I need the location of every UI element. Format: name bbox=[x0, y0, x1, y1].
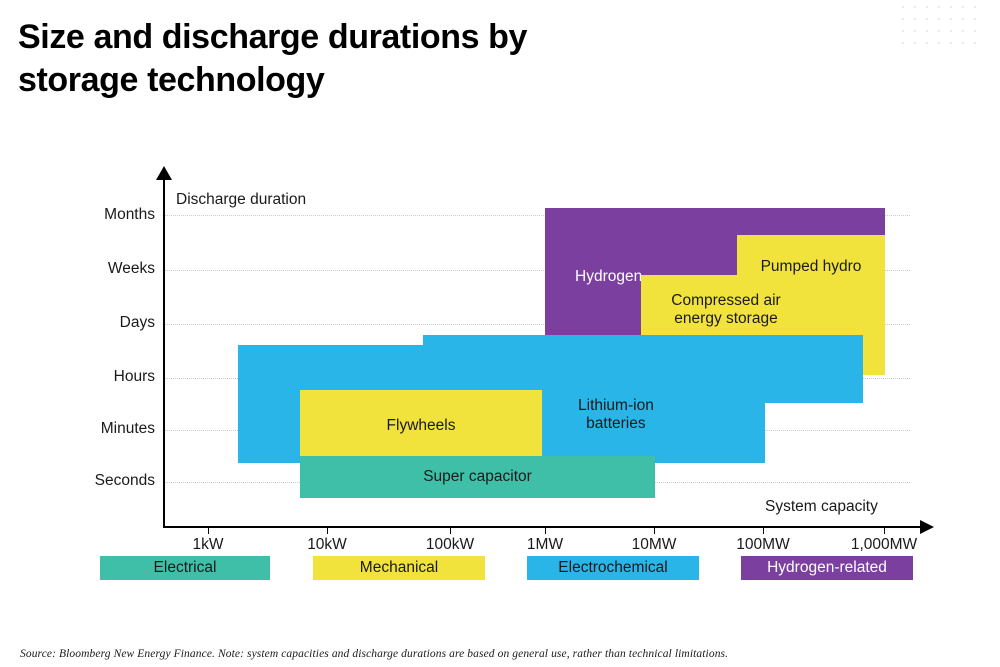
bar-label-hydrogen: Hydrogen bbox=[575, 268, 642, 286]
x-tick-10kw: 10kW bbox=[307, 536, 347, 554]
y-axis-title: Discharge duration bbox=[176, 191, 306, 209]
x-tick-100kw: 100kW bbox=[426, 536, 474, 554]
bar-label-lithium-ion: Lithium-ion batteries bbox=[578, 397, 654, 434]
bar-label-compressed-air: Compressed air energy storage bbox=[641, 292, 811, 329]
y-axis-arrow bbox=[156, 166, 172, 180]
bar-label-pumped-hydro: Pumped hydro bbox=[737, 258, 885, 276]
y-tick-weeks: Weeks bbox=[45, 260, 155, 278]
source-note: Source: Bloomberg New Energy Finance. No… bbox=[20, 648, 728, 660]
decorative-dots bbox=[900, 4, 990, 50]
x-axis-arrow bbox=[920, 520, 934, 534]
legend-item-electrical: Electrical bbox=[100, 556, 270, 580]
x-axis-line bbox=[163, 526, 923, 528]
legend-label-mechanical: Mechanical bbox=[360, 559, 438, 577]
y-tick-months: Months bbox=[45, 206, 155, 224]
bar-super-capacitor: Super capacitor bbox=[300, 456, 655, 498]
page-title: Size and discharge durations by storage … bbox=[18, 16, 718, 102]
y-tick-days: Days bbox=[45, 314, 155, 332]
slide: Size and discharge durations by storage … bbox=[0, 0, 1000, 667]
legend-item-hydrogen-related: Hydrogen-related bbox=[741, 556, 913, 580]
legend: Electrical Mechanical Electrochemical Hy… bbox=[0, 556, 1000, 582]
bar-label-flywheels: Flywheels bbox=[387, 417, 456, 435]
chart-area: Discharge duration System capacity Month… bbox=[0, 150, 1000, 570]
bar-label-super-capacitor: Super capacitor bbox=[423, 468, 532, 486]
x-tick-10mw: 10MW bbox=[632, 536, 677, 554]
legend-label-hydrogen-related: Hydrogen-related bbox=[767, 559, 887, 577]
y-axis-line bbox=[163, 178, 165, 528]
y-tick-minutes: Minutes bbox=[45, 420, 155, 438]
x-axis-title: System capacity bbox=[765, 498, 878, 516]
x-tick-1mw: 1MW bbox=[527, 536, 563, 554]
legend-label-electrical: Electrical bbox=[154, 559, 217, 577]
legend-label-electrochemical: Electrochemical bbox=[558, 559, 667, 577]
x-tick-1kw: 1kW bbox=[193, 536, 224, 554]
legend-item-mechanical: Mechanical bbox=[313, 556, 485, 580]
x-tick-100mw: 100MW bbox=[736, 536, 789, 554]
y-tick-hours: Hours bbox=[45, 368, 155, 386]
y-tick-seconds: Seconds bbox=[45, 472, 155, 490]
x-tick-1000mw: 1,000MW bbox=[851, 536, 917, 554]
bar-flywheels: Flywheels bbox=[300, 390, 542, 463]
legend-item-electrochemical: Electrochemical bbox=[527, 556, 699, 580]
